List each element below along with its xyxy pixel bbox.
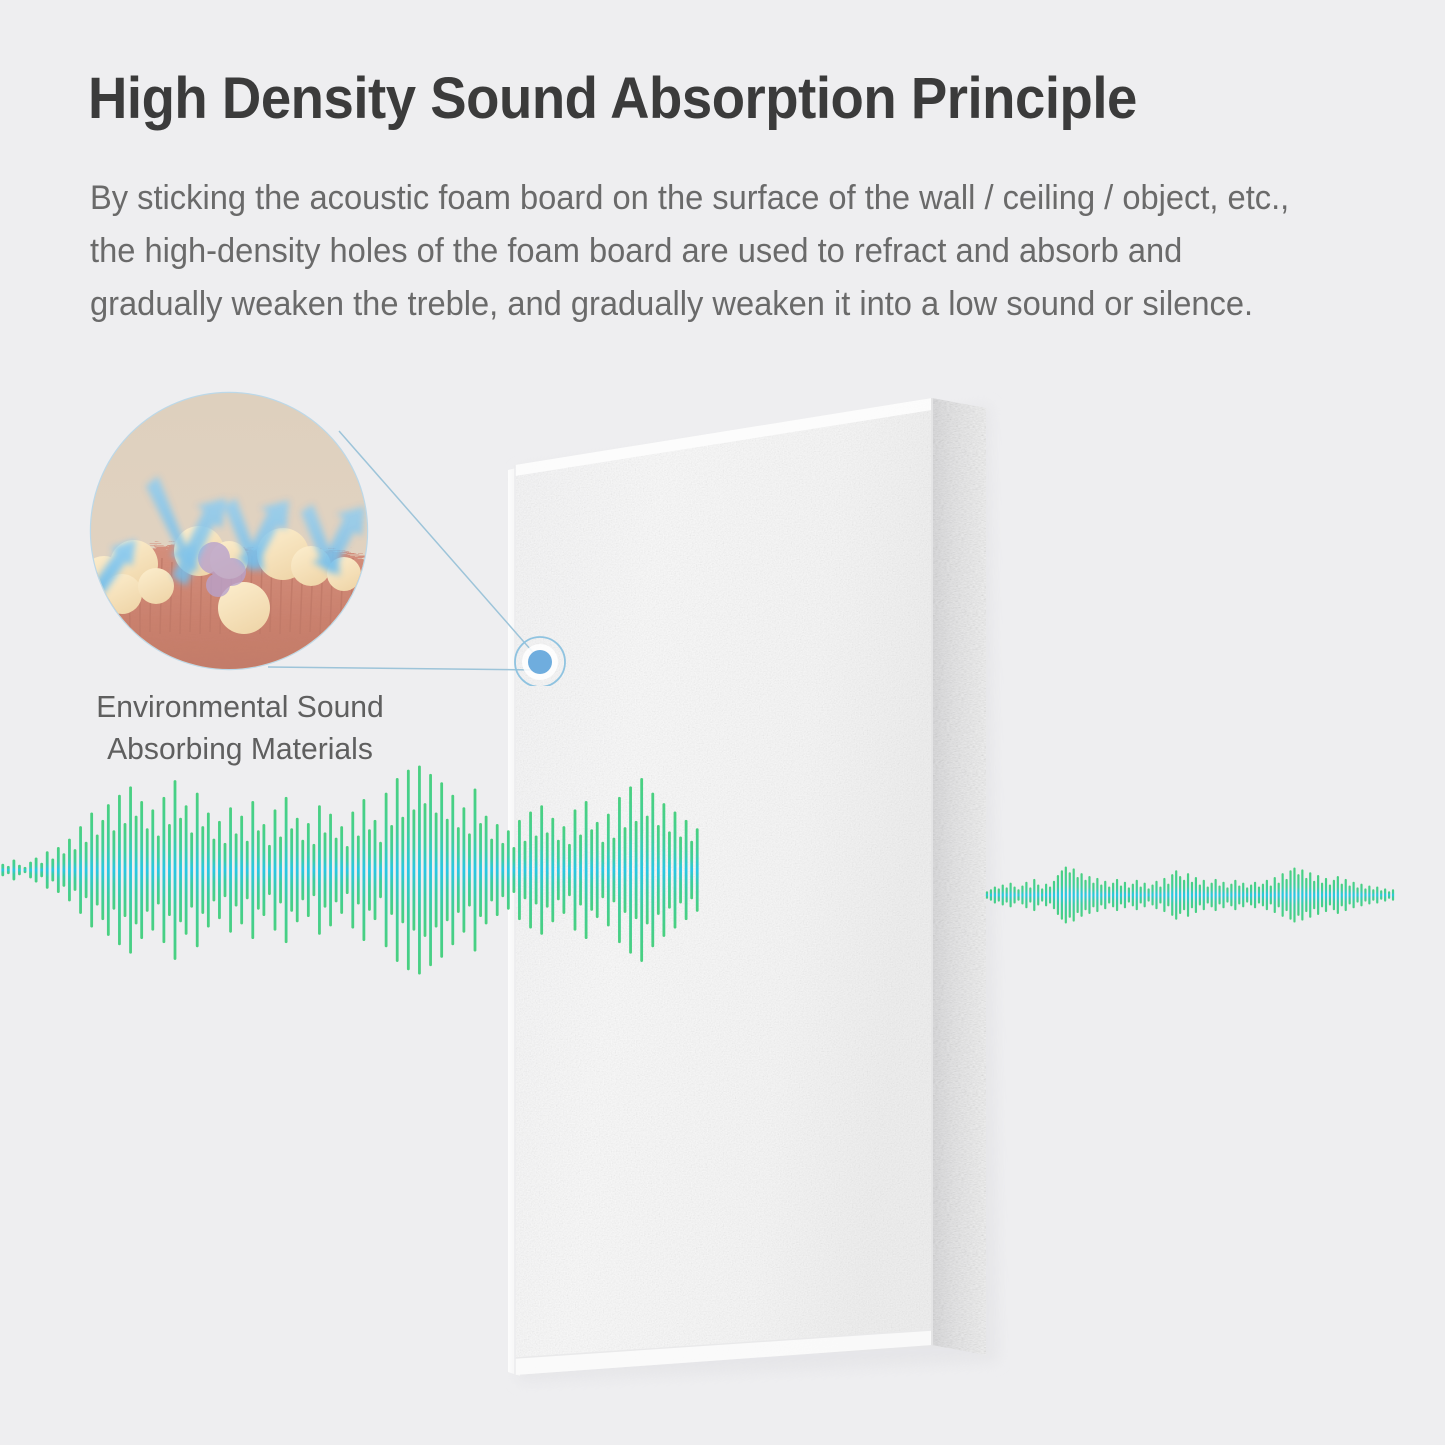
pointer-dot xyxy=(515,637,565,686)
waveform-bar xyxy=(1021,886,1023,905)
waveform-bar xyxy=(190,832,193,907)
waveform-bar xyxy=(418,766,421,975)
waveform-bar xyxy=(451,795,454,945)
waveform-bar xyxy=(1179,876,1181,914)
waveform-bar xyxy=(1238,886,1240,905)
waveform-bar xyxy=(1317,875,1319,915)
waveform-bar xyxy=(1,864,4,877)
waveform-bar xyxy=(257,830,260,909)
waveform-bar xyxy=(1230,884,1232,907)
waveform-bar xyxy=(574,809,577,930)
waveform-bar xyxy=(1203,880,1205,910)
waveform-bar xyxy=(1301,869,1303,920)
waveform-bar xyxy=(35,857,38,882)
waveform-bar xyxy=(246,841,249,900)
waveform-bar xyxy=(1266,880,1268,910)
waveform-bar xyxy=(1289,870,1291,919)
waveform-bar xyxy=(318,805,321,935)
waveform-bar xyxy=(1282,873,1284,917)
waveform-bar xyxy=(540,805,543,935)
waveform-bar xyxy=(1132,884,1134,907)
waveform-bar xyxy=(235,833,238,906)
waveform-bar xyxy=(557,840,560,901)
waveform-bar xyxy=(1167,884,1169,907)
waveform-bar xyxy=(1199,885,1201,906)
magnified-circle xyxy=(86,386,396,686)
waveform-bar xyxy=(1096,878,1098,912)
waveform-bar xyxy=(990,889,992,900)
waveform-bar xyxy=(1349,886,1351,905)
waveform-bar xyxy=(1013,886,1015,903)
waveform-bar xyxy=(490,839,493,902)
waveform-bar xyxy=(1108,886,1110,903)
waveform-bar xyxy=(535,836,538,905)
waveform-bar xyxy=(1053,881,1055,910)
waveform-bar xyxy=(1254,882,1256,909)
waveform-bar xyxy=(112,830,115,909)
waveform-bar xyxy=(146,828,149,912)
waveform-bar xyxy=(1006,887,1008,902)
waveform-bar xyxy=(262,824,265,916)
waveform-bar xyxy=(1207,886,1209,903)
waveform-bar xyxy=(301,840,304,901)
waveform-bar xyxy=(994,886,996,903)
waveform-bar xyxy=(1080,873,1082,917)
waveform-bar xyxy=(107,804,110,936)
waveform-absorbed-svg xyxy=(985,845,1395,945)
waveform-bar xyxy=(62,853,65,886)
waveform-bar xyxy=(1116,879,1118,911)
waveform-bar xyxy=(240,816,243,925)
waveform-bar xyxy=(129,786,132,953)
waveform-bar xyxy=(1128,887,1130,902)
waveform-bar xyxy=(368,829,371,911)
waveform-bar xyxy=(590,829,593,911)
waveform-bar xyxy=(296,818,299,923)
waveform-bar xyxy=(324,832,327,907)
waveform-bar xyxy=(474,788,477,951)
waveform-bar xyxy=(512,847,515,893)
waveform-bar xyxy=(329,814,332,927)
waveform-bar xyxy=(224,843,227,897)
waveform-bars xyxy=(1,766,698,975)
waveform-bar xyxy=(1211,883,1213,908)
waveform-bar xyxy=(1163,878,1165,912)
waveform-bar xyxy=(1140,886,1142,903)
waveform-bar xyxy=(1155,881,1157,910)
waveform-bar xyxy=(1144,883,1146,908)
waveform-bar xyxy=(1057,875,1059,915)
waveform-bar xyxy=(1297,874,1299,916)
waveform-bar xyxy=(435,813,438,928)
waveform-bar xyxy=(1151,885,1153,906)
waveform-bar xyxy=(307,823,310,917)
waveform-bar xyxy=(1250,885,1252,906)
waveform-bar xyxy=(496,824,499,916)
waveform-bar xyxy=(74,849,77,891)
waveform-bar xyxy=(274,809,277,930)
waveform-bar xyxy=(1037,885,1039,906)
waveform-absorbed xyxy=(985,845,1395,945)
waveform-bar xyxy=(1309,872,1311,918)
waveform-bar xyxy=(1360,884,1362,907)
waveform-bar xyxy=(1222,882,1224,909)
waveform-bar xyxy=(312,844,315,896)
waveform-bar xyxy=(251,801,254,939)
waveform-bar xyxy=(1010,883,1012,908)
waveform-bar xyxy=(1124,882,1126,909)
waveform-bar xyxy=(1353,882,1355,909)
waveform-bar xyxy=(1100,885,1102,906)
waveform-bar xyxy=(1187,873,1189,917)
waveform-bar xyxy=(1191,882,1193,909)
infographic-canvas: High Density Sound Absorption Principle … xyxy=(0,0,1445,1445)
waveform-bar xyxy=(429,774,432,966)
waveform-bar xyxy=(646,816,649,925)
waveform-bar xyxy=(118,795,121,945)
waveform-bar xyxy=(168,824,171,916)
waveform-bar xyxy=(124,823,127,917)
waveform-bar xyxy=(579,834,582,905)
waveform-bar xyxy=(1077,877,1079,913)
waveform-bar xyxy=(1242,883,1244,908)
waveform-bar xyxy=(412,809,415,930)
waveform-bar xyxy=(1313,881,1315,910)
waveform-bar xyxy=(1262,884,1264,907)
waveform-bar xyxy=(1325,878,1327,912)
waveform-bar xyxy=(690,841,693,900)
waveform-bar xyxy=(101,820,104,920)
waveform-bar xyxy=(1392,889,1394,900)
waveform-bar xyxy=(457,827,460,913)
waveform-bar xyxy=(379,842,382,898)
waveform-bar xyxy=(351,811,354,928)
waveform-bar xyxy=(1337,876,1339,914)
waveform-bar xyxy=(1321,883,1323,908)
waveform-bar xyxy=(662,803,665,937)
waveform-bar xyxy=(1226,887,1228,902)
page-description: By sticking the acoustic foam board on t… xyxy=(90,172,1307,331)
waveform-bar xyxy=(518,820,521,920)
waveform-bar xyxy=(1112,883,1114,908)
waveform-bar xyxy=(1159,886,1161,903)
waveform-bar xyxy=(1069,872,1071,918)
waveform-bar xyxy=(585,801,588,939)
waveform-bar xyxy=(1384,888,1386,901)
waveform-bar xyxy=(1033,879,1035,911)
waveform-bar xyxy=(1084,880,1086,910)
waveform-bar xyxy=(596,822,599,918)
waveform-bar xyxy=(998,888,1000,901)
waveform-incoming xyxy=(0,760,700,980)
waveform-bar xyxy=(1285,879,1287,911)
waveform-bar xyxy=(1175,870,1177,919)
waveform-bar xyxy=(1234,880,1236,910)
waveform-bar xyxy=(51,859,54,882)
waveform-bar xyxy=(179,818,182,923)
waveform-bar xyxy=(340,826,343,914)
waveform-bar xyxy=(640,778,643,962)
waveform-bar xyxy=(1045,884,1047,907)
waveform-bar xyxy=(524,841,527,900)
waveform-bar xyxy=(462,807,465,932)
waveform-bar xyxy=(1341,884,1343,907)
waveform-bar xyxy=(268,845,271,895)
waveform-bar xyxy=(346,846,349,894)
waveform-bar xyxy=(79,826,82,914)
waveform-bar xyxy=(85,842,88,898)
waveform-bar xyxy=(551,818,554,923)
waveform-bar xyxy=(157,836,160,905)
waveform-bar xyxy=(424,803,427,937)
waveform-bar xyxy=(174,780,177,960)
waveform-bar xyxy=(46,851,49,889)
waveform-bar xyxy=(1104,881,1106,910)
waveform-bar xyxy=(1148,888,1150,901)
inset-caption: Environmental Sound Absorbing Materials xyxy=(65,686,414,770)
waveform-bar xyxy=(479,823,482,917)
waveform-bar xyxy=(1364,888,1366,901)
waveform-bar xyxy=(1356,887,1358,902)
waveform-bar xyxy=(657,825,660,915)
waveform-bar xyxy=(279,837,282,904)
waveform-bar xyxy=(624,827,627,913)
waveform-incoming-svg xyxy=(0,760,700,980)
waveform-bar xyxy=(1017,889,1019,900)
waveform-bar xyxy=(12,860,15,881)
waveform-bar xyxy=(468,833,471,906)
waveform-bar xyxy=(546,832,549,907)
waveform-bar xyxy=(1041,888,1043,901)
waveform-bar xyxy=(285,797,288,943)
waveform-bar xyxy=(207,813,210,928)
waveform-bar xyxy=(651,793,654,948)
waveform-bar xyxy=(357,836,360,905)
waveform-bar xyxy=(390,825,393,915)
waveform-bar xyxy=(1136,880,1138,910)
waveform-bar xyxy=(90,813,93,928)
waveform-bar xyxy=(1092,883,1094,908)
waveform-bar xyxy=(1270,886,1272,905)
waveform-bar xyxy=(201,826,204,914)
waveform-bar xyxy=(601,842,604,898)
waveform-bar xyxy=(1293,867,1295,922)
waveform-bar xyxy=(374,820,377,920)
magnifier-inset xyxy=(86,386,586,686)
waveform-bar xyxy=(385,793,388,948)
waveform-bar xyxy=(1345,879,1347,911)
waveform-bar xyxy=(1368,886,1370,905)
waveform-bar xyxy=(18,865,21,875)
waveform-bar xyxy=(1246,887,1248,902)
waveform-bar xyxy=(440,782,443,958)
waveform-bar xyxy=(1002,885,1004,906)
waveform-bar xyxy=(96,834,99,905)
waveform-bar xyxy=(1073,868,1075,921)
waveform-bar xyxy=(1372,889,1374,900)
waveform-bar xyxy=(335,838,338,903)
waveform-bar xyxy=(7,866,10,874)
waveform-bar xyxy=(362,799,365,941)
waveform-bar xyxy=(674,811,677,928)
waveform-bar xyxy=(1088,876,1090,914)
page-title: High Density Sound Absorption Principle xyxy=(88,68,1291,129)
waveform-bar xyxy=(1120,886,1122,905)
waveform-bar xyxy=(57,847,60,893)
waveform-bar xyxy=(1305,878,1307,912)
waveform-bar xyxy=(1183,880,1185,910)
waveform-bar xyxy=(24,867,27,873)
waveform-bar xyxy=(1195,877,1197,913)
waveform-bar xyxy=(568,844,571,896)
waveform-bar xyxy=(1274,877,1276,913)
waveform-bar xyxy=(446,819,449,921)
waveform-bar xyxy=(68,839,71,902)
magnifier-graphic xyxy=(86,386,586,686)
waveform-bar xyxy=(1388,891,1390,899)
waveform-bar xyxy=(696,828,699,912)
waveform-bar xyxy=(679,837,682,904)
waveform-bar xyxy=(401,817,404,924)
waveform-bar xyxy=(1278,883,1280,908)
waveform-bar xyxy=(396,778,399,962)
waveform-bar xyxy=(612,838,615,903)
waveform-bar xyxy=(1025,882,1027,909)
waveform-bar xyxy=(196,793,199,948)
waveform-bar xyxy=(1065,867,1067,924)
waveform-bar xyxy=(407,770,410,971)
waveform-bar xyxy=(1333,880,1335,910)
waveform-bar xyxy=(501,843,504,897)
waveform-bar xyxy=(1380,890,1382,900)
waveform-bar xyxy=(229,807,232,932)
waveform-bar xyxy=(212,839,215,902)
waveform-bar xyxy=(1029,887,1031,902)
waveform-bars xyxy=(986,867,1394,924)
waveform-bar xyxy=(562,826,565,914)
waveform-bar xyxy=(1171,874,1173,916)
waveform-bar xyxy=(151,809,154,930)
waveform-bar xyxy=(507,830,510,909)
waveform-bar xyxy=(635,821,638,919)
waveform-bar xyxy=(162,797,165,943)
waveform-bar xyxy=(618,797,621,943)
waveform-bar xyxy=(1329,885,1331,906)
waveform-bar xyxy=(1049,886,1051,903)
waveform-bar xyxy=(986,891,988,899)
waveform-bar xyxy=(607,814,610,927)
waveform-bar xyxy=(135,816,138,925)
waveform-bar xyxy=(629,786,632,953)
waveform-bar xyxy=(290,828,293,912)
waveform-bar xyxy=(40,863,43,878)
waveform-bar xyxy=(1376,886,1378,903)
waveform-bar xyxy=(668,831,671,908)
waveform-bar xyxy=(685,820,688,920)
waveform-bar xyxy=(1258,886,1260,903)
waveform-bar xyxy=(1061,870,1063,919)
waveform-bar xyxy=(529,811,532,928)
waveform-bar xyxy=(218,821,221,919)
waveform-bar xyxy=(1215,879,1217,911)
waveform-bar xyxy=(140,801,143,939)
waveform-bar xyxy=(185,805,188,935)
waveform-bar xyxy=(29,862,32,879)
waveform-bar xyxy=(485,816,488,925)
waveform-bar xyxy=(1218,886,1220,905)
